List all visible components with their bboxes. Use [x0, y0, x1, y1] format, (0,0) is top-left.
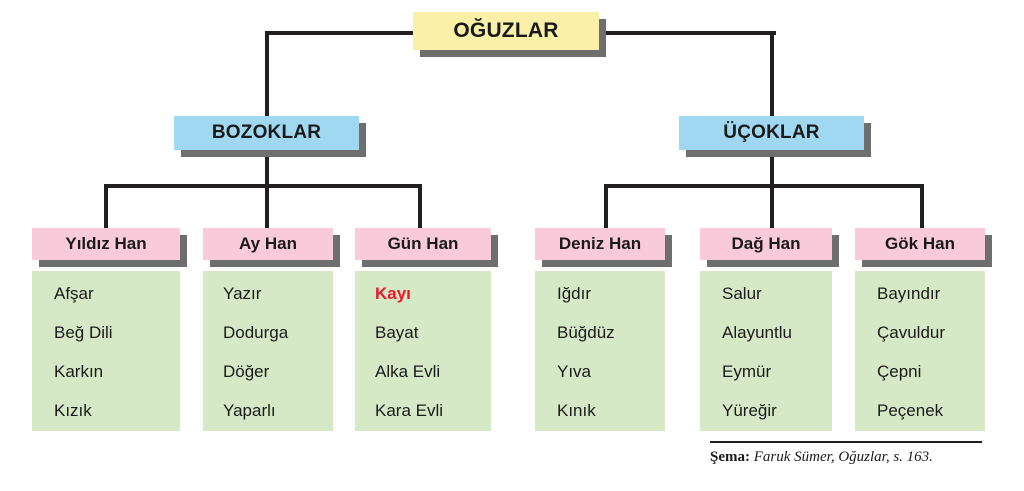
- connector-root-right-horizontal: [597, 31, 776, 35]
- list-item: Kızık: [32, 402, 180, 419]
- node-ucoklar-label: ÜÇOKLAR: [723, 122, 819, 144]
- connector-ucoklar-to-gok: [920, 184, 924, 230]
- column-body-dag-han: Salur Alayuntlu Eymür Yüreğir: [700, 271, 832, 431]
- column-header-deniz-han-label: Deniz Han: [559, 234, 641, 254]
- list-item: Çavuldur: [855, 324, 985, 341]
- connector-bozoklar-bus: [104, 184, 422, 188]
- list-item: Dodurga: [203, 324, 333, 341]
- node-bozoklar[interactable]: BOZOKLAR: [174, 116, 359, 150]
- list-item: Çepni: [855, 363, 985, 380]
- column-body-gun-han: Kayı Bayat Alka Evli Kara Evli: [355, 271, 491, 431]
- list-item: Kınık: [535, 402, 665, 419]
- list-item: Yaparlı: [203, 402, 333, 419]
- list-item: Yazır: [203, 285, 333, 302]
- list-item: Iğdır: [535, 285, 665, 302]
- column-gok-han: Gök Han Bayındır Çavuldur Çepni Peçenek: [855, 228, 985, 431]
- node-oguzlar[interactable]: OĞUZLAR: [413, 12, 599, 50]
- list-item: Kara Evli: [355, 402, 491, 419]
- column-header-deniz-han[interactable]: Deniz Han: [535, 228, 665, 260]
- source-citation-reference: Faruk Sümer, Oğuzlar, s. 163.: [754, 449, 933, 465]
- column-yildiz-han: Yıldız Han Afşar Beğ Dili Karkın Kızık: [32, 228, 180, 431]
- list-item: Bayat: [355, 324, 491, 341]
- column-header-yildiz-han-label: Yıldız Han: [65, 234, 146, 254]
- source-divider: [710, 441, 982, 443]
- column-body-ay-han: Yazır Dodurga Döğer Yaparlı: [203, 271, 333, 431]
- oguz-tribes-diagram: OĞUZLAR BOZOKLAR ÜÇOKLAR Yıldız Han Afşa…: [0, 0, 1024, 491]
- connector-root-to-ucoklar: [770, 31, 774, 118]
- connector-bozoklar-to-ay: [265, 184, 269, 230]
- connector-bozoklar-to-yildiz: [104, 184, 108, 230]
- list-item-highlighted: Kayı: [355, 285, 491, 302]
- list-item: Beğ Dili: [32, 324, 180, 341]
- column-header-dag-han-label: Dağ Han: [732, 234, 801, 254]
- list-item: Salur: [700, 285, 832, 302]
- column-body-gok-han: Bayındır Çavuldur Çepni Peçenek: [855, 271, 985, 431]
- list-item: Eymür: [700, 363, 832, 380]
- connector-ucoklar-to-dag: [770, 184, 774, 230]
- column-header-gok-han-label: Gök Han: [885, 234, 955, 254]
- column-body-yildiz-han: Afşar Beğ Dili Karkın Kızık: [32, 271, 180, 431]
- connector-root-left-horizontal: [267, 31, 415, 35]
- column-deniz-han: Deniz Han Iğdır Büğdüz Yıva Kınık: [535, 228, 665, 431]
- list-item: Yüreğir: [700, 402, 832, 419]
- list-item: Alka Evli: [355, 363, 491, 380]
- list-item: Karkın: [32, 363, 180, 380]
- column-header-dag-han[interactable]: Dağ Han: [700, 228, 832, 260]
- connector-root-to-bozoklar: [265, 31, 269, 118]
- list-item: Yıva: [535, 363, 665, 380]
- node-bozoklar-label: BOZOKLAR: [212, 122, 321, 144]
- column-header-gun-han-label: Gün Han: [388, 234, 459, 254]
- list-item: Büğdüz: [535, 324, 665, 341]
- column-header-ay-han[interactable]: Ay Han: [203, 228, 333, 260]
- column-body-deniz-han: Iğdır Büğdüz Yıva Kınık: [535, 271, 665, 431]
- column-header-gun-han[interactable]: Gün Han: [355, 228, 491, 260]
- list-item: Peçenek: [855, 402, 985, 419]
- connector-ucoklar-to-deniz: [604, 184, 608, 230]
- column-header-ay-han-label: Ay Han: [239, 234, 297, 254]
- list-item: Bayındır: [855, 285, 985, 302]
- list-item: Döğer: [203, 363, 333, 380]
- column-header-gok-han[interactable]: Gök Han: [855, 228, 985, 260]
- column-header-yildiz-han[interactable]: Yıldız Han: [32, 228, 180, 260]
- node-ucoklar[interactable]: ÜÇOKLAR: [679, 116, 864, 150]
- column-dag-han: Dağ Han Salur Alayuntlu Eymür Yüreğir: [700, 228, 832, 431]
- source-citation-label: Şema:: [710, 449, 750, 465]
- column-ay-han: Ay Han Yazır Dodurga Döğer Yaparlı: [203, 228, 333, 431]
- node-oguzlar-label: OĞUZLAR: [453, 19, 558, 43]
- list-item: Afşar: [32, 285, 180, 302]
- column-gun-han: Gün Han Kayı Bayat Alka Evli Kara Evli: [355, 228, 491, 431]
- connector-bozoklar-to-gun: [418, 184, 422, 230]
- source-citation: Şema: Faruk Sümer, Oğuzlar, s. 163.: [710, 449, 990, 466]
- connector-ucoklar-bus: [604, 184, 924, 188]
- list-item: Alayuntlu: [700, 324, 832, 341]
